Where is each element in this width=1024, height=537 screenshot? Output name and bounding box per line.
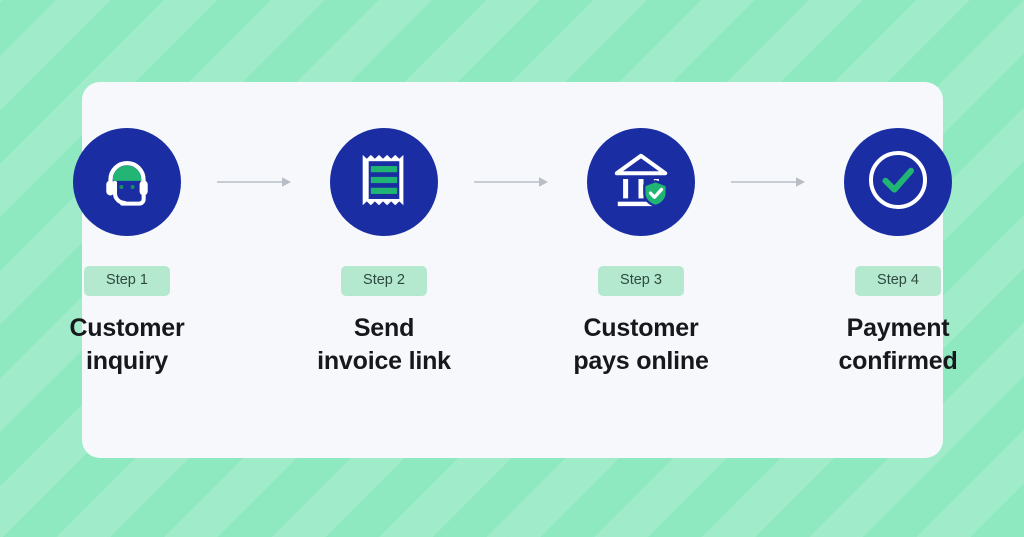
step-4-label-line1: Payment	[847, 314, 950, 342]
step-1-icon-circle[interactable]	[73, 128, 181, 236]
step-4-label-line2: confirmed	[838, 347, 957, 375]
step-4-icon-circle[interactable]	[844, 128, 952, 236]
arrow-right-icon	[474, 175, 552, 189]
circle-check-icon	[866, 148, 930, 217]
arrow-right-icon	[217, 175, 295, 189]
headset-support-icon	[96, 149, 158, 216]
step-2-label-line1: Send	[354, 314, 414, 342]
arrow-right-icon	[731, 175, 809, 189]
steps-row: Step 1 Customer inquiry	[82, 82, 943, 458]
connector-3	[727, 128, 812, 236]
step-1-badge: Step 1	[84, 266, 170, 296]
flow-step-4[interactable]: Step 4 Payment confirmed	[812, 128, 984, 378]
step-3-label-line1: Customer	[583, 314, 698, 342]
bank-shield-check-icon	[609, 150, 673, 215]
step-1-label-line2: inquiry	[86, 347, 168, 375]
flow-step-1[interactable]: Step 1 Customer inquiry	[41, 128, 213, 378]
step-3-icon-circle[interactable]	[587, 128, 695, 236]
step-3-label: Customer pays online	[573, 312, 708, 378]
step-2-icon-circle[interactable]	[330, 128, 438, 236]
step-3-badge: Step 3	[598, 266, 684, 296]
step-1-label: Customer inquiry	[69, 312, 184, 378]
invoice-receipt-icon	[356, 149, 412, 216]
flow-step-3[interactable]: Step 3 Customer pays online	[555, 128, 727, 378]
flow-card: Step 1 Customer inquiry	[82, 82, 943, 458]
step-2-label-line2: invoice link	[317, 347, 451, 375]
step-3-label-line2: pays online	[573, 347, 708, 375]
step-2-label: Send invoice link	[317, 312, 451, 378]
step-4-badge: Step 4	[855, 266, 941, 296]
connector-1	[213, 128, 298, 236]
step-1-label-line1: Customer	[69, 314, 184, 342]
step-4-label: Payment confirmed	[838, 312, 957, 378]
flow-step-2[interactable]: Step 2 Send invoice link	[298, 128, 470, 378]
step-2-badge: Step 2	[341, 266, 427, 296]
connector-2	[470, 128, 555, 236]
